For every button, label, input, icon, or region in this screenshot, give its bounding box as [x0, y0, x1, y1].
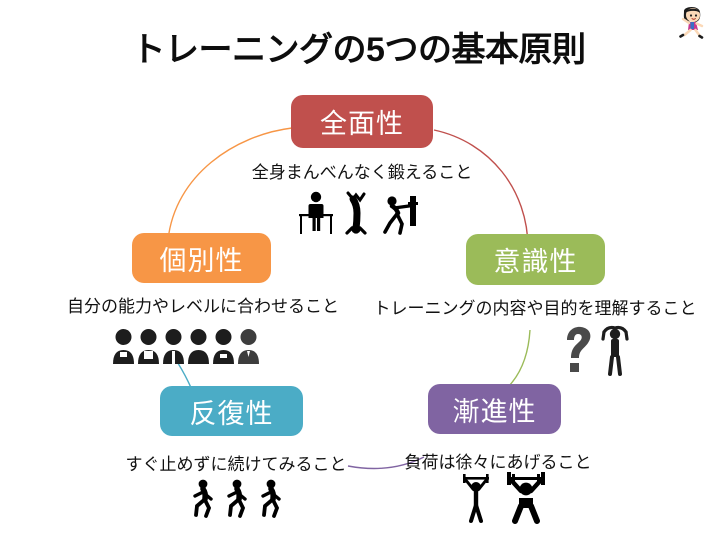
principle-icons-hanpukusei [185, 476, 289, 522]
connector-arcs [0, 0, 717, 536]
question-mark-icon [561, 324, 595, 378]
principle-chip-ishikisei[interactable]: 意識性 [466, 234, 605, 285]
principle-chip-hanpukusei[interactable]: 反復性 [160, 386, 303, 436]
person-silhouette-icon [212, 326, 235, 366]
running-person-icon [224, 478, 250, 522]
principle-icons-ishikisei [556, 322, 636, 378]
principle-label-hanpukusei: 反復性 [190, 392, 274, 431]
principle-label-zenmensei: 全面性 [320, 102, 404, 141]
weightlifter-heavy-icon [502, 472, 550, 524]
principle-caption-ishikisei: トレーニングの内容や目的を理解すること [368, 294, 702, 319]
principle-label-kobetsusei: 個別性 [160, 239, 244, 278]
principle-chip-zenmensei[interactable]: 全面性 [291, 95, 433, 148]
principle-icons-zenmensei [292, 188, 426, 236]
principle-caption-zenmensei: 全身まんべんなく鍛えること [250, 158, 474, 183]
person-silhouette-icon [237, 326, 260, 366]
principle-chip-kobetsusei[interactable]: 個別性 [132, 233, 271, 283]
principle-caption-kobetsusei: 自分の能力やレベルに合わせること [58, 292, 348, 317]
principle-label-ishikisei: 意識性 [494, 240, 578, 279]
running-person-icon [190, 478, 216, 522]
person-silhouette-icon [137, 326, 160, 366]
thinking-person-icon [598, 324, 632, 378]
principle-chip-zenshinsei[interactable]: 漸進性 [428, 384, 561, 434]
running-person-icon [258, 478, 284, 522]
connector-zenmensei-ishikisei [434, 130, 528, 248]
principle-label-zenshinsei: 漸進性 [453, 390, 537, 429]
connector-kobetsusei-zenmensei [168, 128, 292, 240]
parallel-bars-exercise-icon [296, 190, 336, 236]
slide-canvas: トレーニングの5つの基本原則 [0, 0, 717, 536]
weight-lift-exercise-icon [378, 190, 422, 236]
person-silhouette-icon [162, 326, 185, 366]
handstand-exercise-icon [342, 190, 372, 236]
person-silhouette-icon [112, 326, 135, 366]
principle-caption-hanpukusei: すぐ止めずに続けてみること [125, 450, 347, 475]
principle-icons-kobetsusei [112, 324, 260, 366]
person-silhouette-icon [187, 326, 210, 366]
weightlifter-light-icon [454, 472, 498, 524]
principle-icons-zenshinsei [452, 470, 552, 524]
